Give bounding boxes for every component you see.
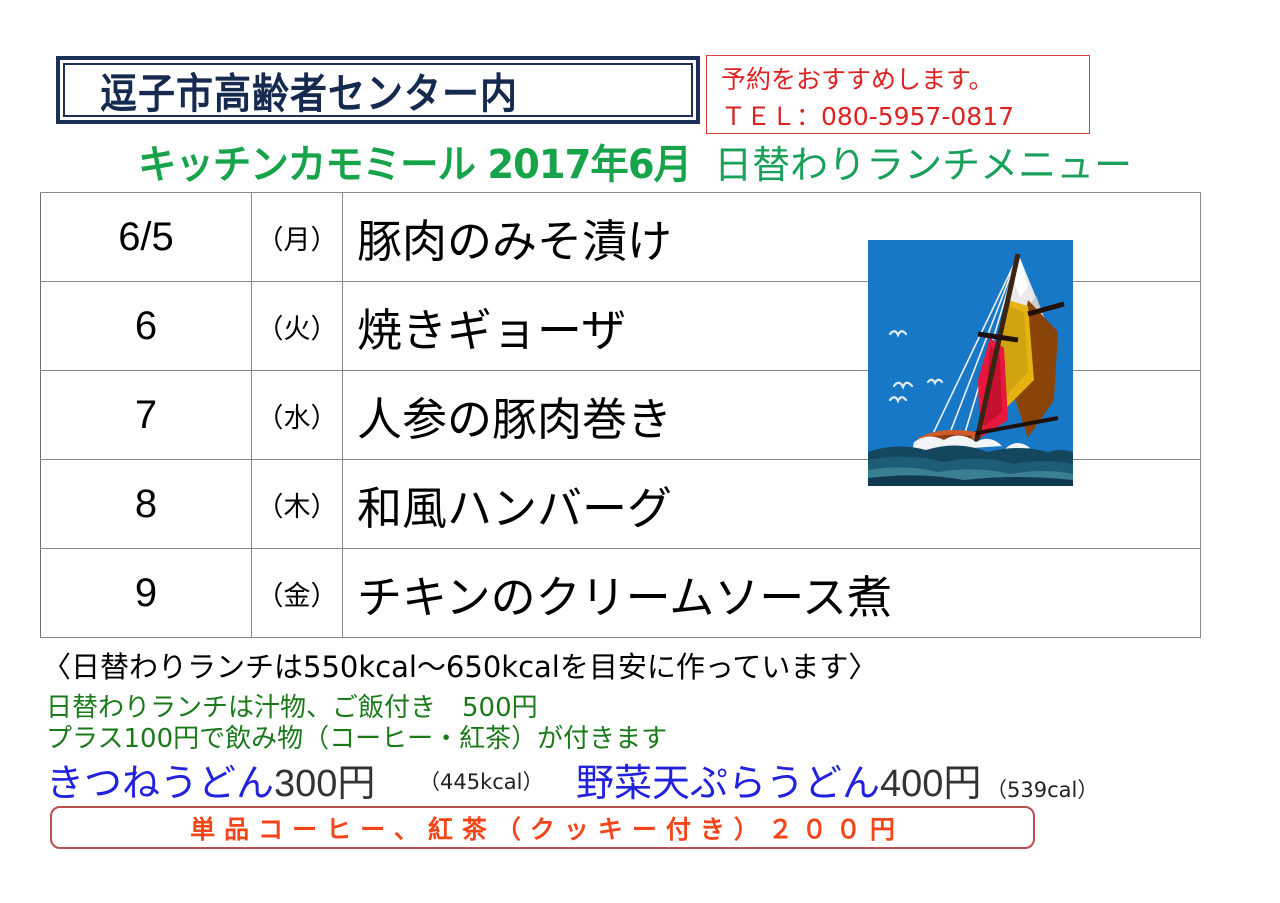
kcal-note: 〈日替わりランチは550kcal〜650kcalを目安に作っています〉 xyxy=(42,644,877,686)
udon-calories-1: （445kcal） xyxy=(419,766,544,796)
udon-price-1: 300円 xyxy=(274,763,375,805)
date-value: 8 xyxy=(135,482,157,526)
cell-day: （木） xyxy=(252,460,343,549)
day-value: （月） xyxy=(257,225,338,256)
udon-item-2: 野菜天ぷらうどん400円 xyxy=(576,752,981,807)
date-value: 7 xyxy=(135,393,157,437)
sailboat-icon xyxy=(868,240,1073,486)
coffee-price-text: 単品コーヒー、紅茶（クッキー付き）２００円 xyxy=(181,810,904,846)
udon-calories-2: （539cal） xyxy=(986,774,1098,804)
coffee-price-box: 単品コーヒー、紅茶（クッキー付き）２００円 xyxy=(50,806,1035,849)
date-value: 6/5 xyxy=(118,215,174,259)
day-value: （木） xyxy=(257,492,338,523)
telephone-number: ＴＥＬ：080-5957-0817 xyxy=(721,98,1089,135)
menu-flyer: 逗子市高齢者センター内 予約をおすすめします。 ＴＥＬ：080-5957-081… xyxy=(0,0,1280,903)
reservation-box: 予約をおすすめします。 ＴＥＬ：080-5957-0817 xyxy=(706,55,1090,134)
date-value: 6 xyxy=(135,304,157,348)
udon-item-1: きつねうどん300円 xyxy=(46,783,375,800)
page-title-subject: 日替わりランチメニュー xyxy=(714,134,1132,189)
cell-date: 7 xyxy=(41,371,252,460)
cell-day: （水） xyxy=(252,371,343,460)
cell-day: （火） xyxy=(252,282,343,371)
sailboat-image xyxy=(868,240,1073,486)
table-row: 9 （金） チキンのクリームソース煮 xyxy=(41,549,1201,638)
cell-date: 6/5 xyxy=(41,193,252,282)
page-title-shop-month: キッチンカモミール 2017年6月 xyxy=(138,132,691,190)
reservation-note: 予約をおすすめします。 xyxy=(721,61,1089,98)
date-value: 9 xyxy=(135,571,157,615)
day-value: （火） xyxy=(257,314,338,345)
udon-name-2: 野菜天ぷらうどん xyxy=(576,761,880,805)
cell-date: 9 xyxy=(41,549,252,638)
udon-prices-row: きつねうどん300円 （445kcal） 野菜天ぷらうどん400円 （539ca… xyxy=(46,752,1166,800)
udon-name-1: きつねうどん xyxy=(46,761,274,805)
venue-name: 逗子市高齢者センター内 xyxy=(60,60,518,120)
udon-price-2: 400円 xyxy=(880,763,981,805)
dish-value: チキンのクリームソース煮 xyxy=(343,561,1200,626)
cell-dish: チキンのクリームソース煮 xyxy=(343,549,1201,638)
page-title: キッチンカモミール 2017年6月 日替わりランチメニュー xyxy=(0,137,1280,185)
cell-date: 6 xyxy=(41,282,252,371)
day-value: （金） xyxy=(257,581,338,612)
day-value: （水） xyxy=(257,403,338,434)
cell-day: （月） xyxy=(252,193,343,282)
cell-day: （金） xyxy=(252,549,343,638)
cell-date: 8 xyxy=(41,460,252,549)
venue-box: 逗子市高齢者センター内 xyxy=(56,56,700,124)
drink-addon-note: プラス100円で飲み物（コーヒー・紅茶）が付きます xyxy=(46,718,667,755)
